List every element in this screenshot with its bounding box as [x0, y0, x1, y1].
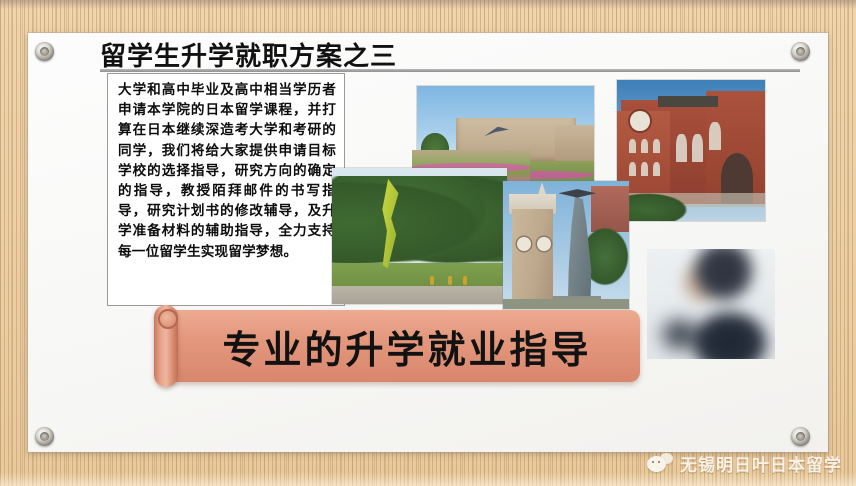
photo-clock-tower-and-statue: [503, 181, 629, 309]
scroll-roll-decoration: [154, 305, 178, 387]
photo-red-brick-university-building: [617, 80, 765, 221]
arched-window: [692, 134, 702, 162]
slide-stage: 留学生升学就职方案之三 大学和高中毕业及高中相当学历者申请本学院的日本留学课程，…: [0, 0, 856, 486]
walkway: [332, 286, 507, 304]
wood-top-shadow: [0, 0, 856, 9]
lawn: [332, 263, 507, 287]
page-title: 留学生升学就职方案之三: [100, 36, 397, 73]
background-building: [591, 186, 629, 232]
photo-blurred-person: [647, 249, 775, 359]
pedestrian: [463, 276, 467, 285]
clock-face-icon: [517, 237, 531, 251]
watermark-text: 无锡明日叶日本留学: [680, 451, 842, 476]
window: [653, 162, 660, 176]
shrubbery: [620, 193, 688, 221]
window: [641, 139, 648, 153]
arched-window: [709, 122, 721, 150]
window: [629, 162, 636, 176]
watermark: 无锡明日叶日本留学: [647, 451, 842, 476]
ground-strip: [503, 299, 629, 309]
banner-headline: 专业的升学就业指导: [160, 310, 640, 382]
screw-top-left-icon: [35, 42, 54, 61]
scroll-banner: 专业的升学就业指导: [160, 310, 640, 382]
photo-green-sculpture-park: [332, 168, 507, 304]
screw-bottom-right-icon: [791, 427, 810, 446]
bubble-large: [647, 456, 666, 472]
window: [641, 162, 648, 176]
body-text-box: 大学和高中毕业及高中相当学历者申请本学院的日本留学课程，并打算在日本继续深造考大…: [107, 73, 345, 306]
window: [653, 139, 660, 153]
arched-window: [676, 134, 686, 162]
clock-tower: [512, 209, 554, 304]
body-paragraph: 大学和高中毕业及高中相当学历者申请本学院的日本留学课程，并打算在日本继续深造考大…: [118, 80, 336, 262]
blurred-figure: [647, 249, 775, 359]
title-divider: [100, 69, 800, 72]
window: [629, 139, 636, 153]
building-wing: [555, 125, 594, 161]
roof-ridge: [658, 96, 717, 107]
gable-rose-window-icon: [630, 111, 649, 131]
screw-top-right-icon: [791, 42, 810, 61]
screw-bottom-left-icon: [35, 427, 54, 446]
tree-canopy: [332, 176, 507, 274]
wechat-bubble-icon: [647, 453, 673, 475]
pedestrian: [448, 276, 452, 285]
pedestrian: [430, 276, 434, 285]
